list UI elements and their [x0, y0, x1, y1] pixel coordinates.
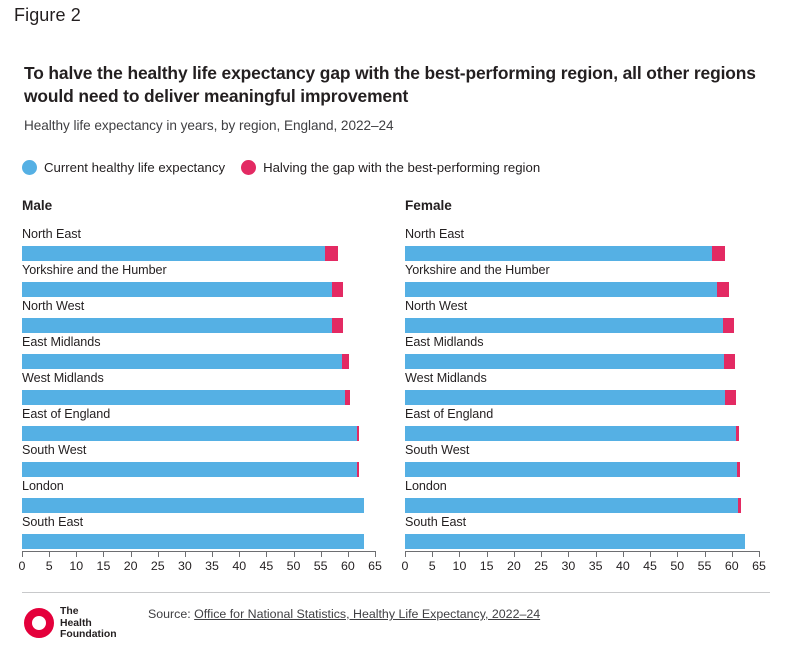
bar-segment-current — [22, 354, 342, 369]
axis-line — [405, 551, 759, 552]
bar-track — [405, 534, 779, 549]
bar-category-label: East of England — [405, 407, 493, 421]
axis-tick-label: 20 — [507, 559, 521, 573]
axis-tick — [432, 551, 433, 557]
axis-tick — [49, 551, 50, 557]
panel-title-female: Female — [405, 198, 779, 213]
bar-group: South West — [405, 443, 779, 479]
bar-group: West Midlands — [22, 371, 394, 407]
x-axis-male: 05101520253035404550556065 — [22, 551, 394, 577]
source-note: Source: Office for National Statistics, … — [148, 607, 540, 621]
bar-segment-current — [405, 282, 717, 297]
axis-tick-label: 10 — [453, 559, 467, 573]
axis-tick-label: 5 — [429, 559, 436, 573]
legend-label: Halving the gap with the best-performing… — [263, 160, 540, 175]
axis-tick — [212, 551, 213, 557]
panel-male: Male North EastYorkshire and the HumberN… — [22, 198, 394, 577]
bar-segment-current — [405, 318, 723, 333]
bar-track — [22, 462, 394, 477]
bar-group: London — [405, 479, 779, 515]
axis-tick-label: 25 — [534, 559, 548, 573]
bar-segment-current — [405, 390, 725, 405]
axis-tick — [22, 551, 23, 557]
bar-group: London — [22, 479, 394, 515]
bar-track — [22, 498, 394, 513]
bar-track — [22, 318, 394, 333]
bar-category-label: West Midlands — [22, 371, 104, 385]
bar-segment-halved — [717, 282, 729, 297]
bar-segment-halved — [736, 426, 739, 441]
legend-label: Current healthy life expectancy — [44, 160, 225, 175]
axis-tick — [321, 551, 322, 557]
ring-logo-icon — [24, 608, 54, 638]
axis-tick-label: 50 — [670, 559, 684, 573]
bar-category-label: West Midlands — [405, 371, 487, 385]
bar-track — [405, 318, 779, 333]
axis-tick-label: 25 — [151, 559, 165, 573]
bar-segment-current — [22, 426, 357, 441]
axis-tick-label: 55 — [314, 559, 328, 573]
bar-category-label: South East — [22, 515, 83, 529]
bar-segment-current — [405, 498, 738, 513]
blue-circle-icon — [22, 160, 37, 175]
axis-tick-label: 30 — [561, 559, 575, 573]
axis-tick-label: 65 — [368, 559, 382, 573]
chart-subtitle: Healthy life expectancy in years, by reg… — [24, 118, 776, 133]
bar-group: South East — [405, 515, 779, 551]
axis-tick — [158, 551, 159, 557]
bar-segment-current — [22, 390, 345, 405]
bar-group: South West — [22, 443, 394, 479]
figure-label: Figure 2 — [14, 5, 81, 26]
bar-category-label: Yorkshire and the Humber — [405, 263, 550, 277]
axis-tick-label: 45 — [259, 559, 273, 573]
axis-tick — [103, 551, 104, 557]
bar-track — [22, 534, 394, 549]
source-link[interactable]: Office for National Statistics, Healthy … — [194, 607, 540, 621]
axis-line — [22, 551, 375, 552]
bar-category-label: South West — [405, 443, 469, 457]
bar-category-label: South East — [405, 515, 466, 529]
axis-tick — [623, 551, 624, 557]
bar-segment-halved — [723, 318, 734, 333]
bar-track — [22, 390, 394, 405]
bar-segment-halved — [332, 318, 343, 333]
source-prefix: Source: — [148, 607, 194, 621]
axis-tick-label: 15 — [97, 559, 111, 573]
bar-track — [22, 246, 394, 261]
chart-title: To halve the healthy life expectancy gap… — [24, 62, 776, 109]
logo-line-2: Health — [60, 618, 117, 630]
bar-segment-current — [405, 354, 724, 369]
axis-tick — [487, 551, 488, 557]
bar-group: North West — [22, 299, 394, 335]
bar-segment-halved — [357, 426, 359, 441]
bar-segment-current — [405, 426, 736, 441]
bar-group: South East — [22, 515, 394, 551]
bar-track — [405, 282, 779, 297]
bar-segment-current — [22, 282, 332, 297]
bar-group: North East — [22, 227, 394, 263]
axis-tick-label: 35 — [589, 559, 603, 573]
axis-tick-label: 60 — [341, 559, 355, 573]
bar-segment-current — [22, 498, 364, 513]
bar-track — [405, 390, 779, 405]
panel-female: Female North EastYorkshire and the Humbe… — [405, 198, 779, 577]
axis-tick-label: 0 — [19, 559, 26, 573]
bar-category-label: South West — [22, 443, 86, 457]
bar-category-label: East of England — [22, 407, 110, 421]
axis-tick — [541, 551, 542, 557]
axis-tick — [294, 551, 295, 557]
bar-category-label: North West — [22, 299, 84, 313]
logo-line-3: Foundation — [60, 629, 117, 641]
bar-group: East Midlands — [22, 335, 394, 371]
bar-segment-current — [22, 462, 357, 477]
axis-tick — [705, 551, 706, 557]
logo-wordmark: The Health Foundation — [60, 606, 117, 641]
bar-segment-current — [22, 246, 325, 261]
footer-divider — [22, 592, 770, 593]
axis-tick — [239, 551, 240, 557]
bar-track — [405, 426, 779, 441]
health-foundation-logo: The Health Foundation — [24, 606, 117, 641]
bar-category-label: North West — [405, 299, 467, 313]
plot-area-male: North EastYorkshire and the HumberNorth … — [22, 227, 394, 551]
bar-segment-halved — [724, 354, 735, 369]
bar-group: Yorkshire and the Humber — [405, 263, 779, 299]
axis-tick — [677, 551, 678, 557]
bar-segment-current — [405, 534, 745, 549]
bar-category-label: East Midlands — [405, 335, 483, 349]
bar-segment-current — [22, 318, 332, 333]
axis-tick — [185, 551, 186, 557]
bar-group: West Midlands — [405, 371, 779, 407]
axis-tick-label: 0 — [402, 559, 409, 573]
bar-category-label: Yorkshire and the Humber — [22, 263, 167, 277]
bar-group: East of England — [22, 407, 394, 443]
x-axis-female: 05101520253035404550556065 — [405, 551, 779, 577]
bar-group: Yorkshire and the Humber — [22, 263, 394, 299]
axis-tick-label: 10 — [69, 559, 83, 573]
axis-tick-label: 35 — [205, 559, 219, 573]
bar-segment-halved — [357, 462, 359, 477]
header-block: To halve the healthy life expectancy gap… — [24, 62, 776, 133]
legend-item: Current healthy life expectancy — [22, 160, 225, 175]
bar-group: North West — [405, 299, 779, 335]
bar-segment-halved — [332, 282, 343, 297]
bar-segment-halved — [738, 498, 741, 513]
legend-item: Halving the gap with the best-performing… — [241, 160, 540, 175]
figure-container: Figure 2 To halve the healthy life expec… — [0, 0, 792, 664]
bar-segment-current — [405, 462, 737, 477]
axis-tick-label: 40 — [232, 559, 246, 573]
axis-tick — [650, 551, 651, 557]
axis-tick — [459, 551, 460, 557]
bar-track — [405, 246, 779, 261]
axis-tick-label: 5 — [46, 559, 53, 573]
bar-segment-halved — [342, 354, 349, 369]
axis-tick-label: 45 — [643, 559, 657, 573]
axis-tick-label: 65 — [752, 559, 766, 573]
axis-tick — [514, 551, 515, 557]
bar-segment-current — [405, 246, 712, 261]
bar-track — [22, 282, 394, 297]
bar-segment-current — [22, 534, 364, 549]
chart-legend: Current healthy life expectancyHalving t… — [22, 160, 540, 175]
bar-segment-halved — [737, 462, 740, 477]
axis-tick-label: 40 — [616, 559, 630, 573]
bar-category-label: North East — [22, 227, 81, 241]
bar-category-label: London — [405, 479, 447, 493]
logo-line-1: The — [60, 606, 117, 618]
axis-tick — [266, 551, 267, 557]
bar-category-label: North East — [405, 227, 464, 241]
bar-track — [405, 498, 779, 513]
bar-group: East of England — [405, 407, 779, 443]
panel-title-male: Male — [22, 198, 394, 213]
axis-tick-label: 60 — [725, 559, 739, 573]
axis-tick-label: 30 — [178, 559, 192, 573]
bar-track — [22, 426, 394, 441]
bar-category-label: East Midlands — [22, 335, 100, 349]
axis-tick-label: 55 — [698, 559, 712, 573]
axis-tick-label: 20 — [124, 559, 138, 573]
bar-category-label: London — [22, 479, 64, 493]
axis-tick-label: 15 — [480, 559, 494, 573]
axis-tick-label: 50 — [287, 559, 301, 573]
pink-circle-icon — [241, 160, 256, 175]
axis-tick — [348, 551, 349, 557]
bar-group: North East — [405, 227, 779, 263]
axis-tick — [568, 551, 569, 557]
axis-tick — [375, 551, 376, 557]
axis-tick — [732, 551, 733, 557]
axis-tick — [405, 551, 406, 557]
axis-tick — [131, 551, 132, 557]
bar-track — [405, 354, 779, 369]
bar-segment-halved — [325, 246, 338, 261]
bar-track — [405, 462, 779, 477]
plot-area-female: North EastYorkshire and the HumberNorth … — [405, 227, 779, 551]
bar-segment-halved — [725, 390, 736, 405]
bar-group: East Midlands — [405, 335, 779, 371]
axis-tick — [76, 551, 77, 557]
bar-segment-halved — [345, 390, 350, 405]
bar-track — [22, 354, 394, 369]
axis-tick — [596, 551, 597, 557]
axis-tick — [759, 551, 760, 557]
bar-segment-halved — [712, 246, 726, 261]
